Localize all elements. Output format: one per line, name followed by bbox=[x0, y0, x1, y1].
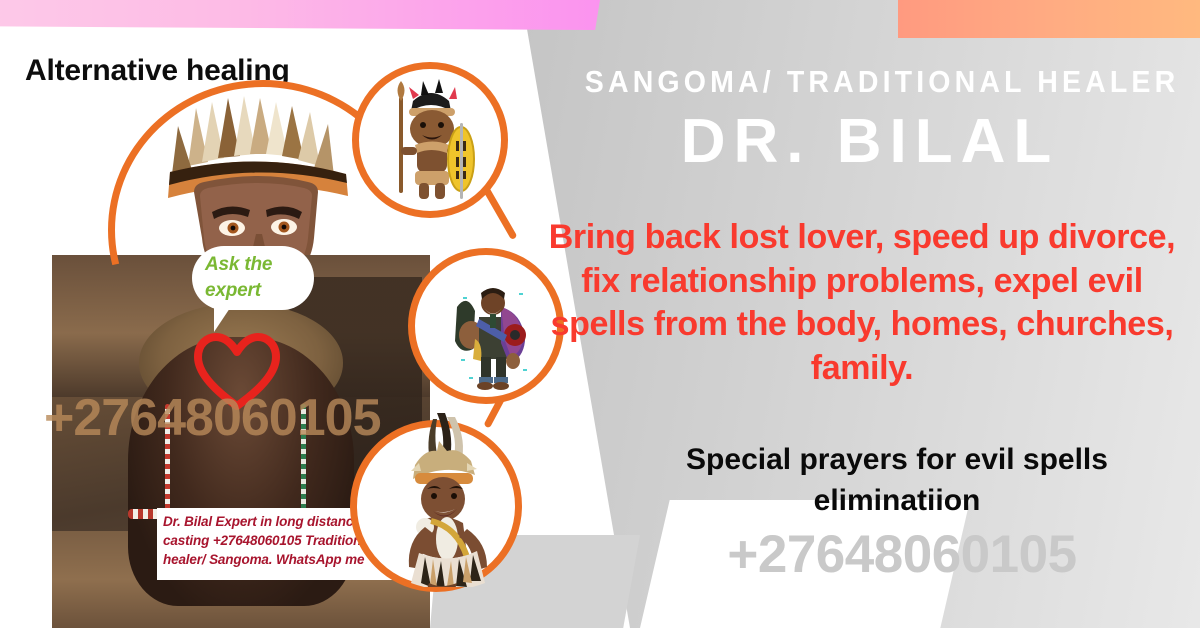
services-description: Bring back lost lover, speed up divorce,… bbox=[542, 216, 1182, 390]
phone-watermark: +27648060105 bbox=[612, 524, 1192, 585]
sangoma-dancer-icon bbox=[375, 407, 515, 592]
zulu-warrior-circle bbox=[352, 62, 508, 218]
zulu-warrior-icon bbox=[373, 75, 489, 212]
pink-accent-bar bbox=[0, 0, 600, 30]
robed-traveler-icon bbox=[449, 273, 537, 398]
speech-bubble-label: Ask the expert bbox=[205, 252, 315, 303]
prayers-description: Special prayers for evil spells eliminat… bbox=[612, 440, 1182, 521]
poster-canvas: Alternative healing bbox=[0, 0, 1200, 628]
kicker-label: SANGOMA/ TRADITIONAL HEALER bbox=[585, 64, 1155, 100]
robed-traveler-circle bbox=[408, 248, 564, 404]
brand-name: DR. BILAL bbox=[560, 106, 1180, 177]
orange-accent-bar bbox=[898, 0, 1200, 38]
sangoma-dancer-circle bbox=[350, 420, 522, 592]
